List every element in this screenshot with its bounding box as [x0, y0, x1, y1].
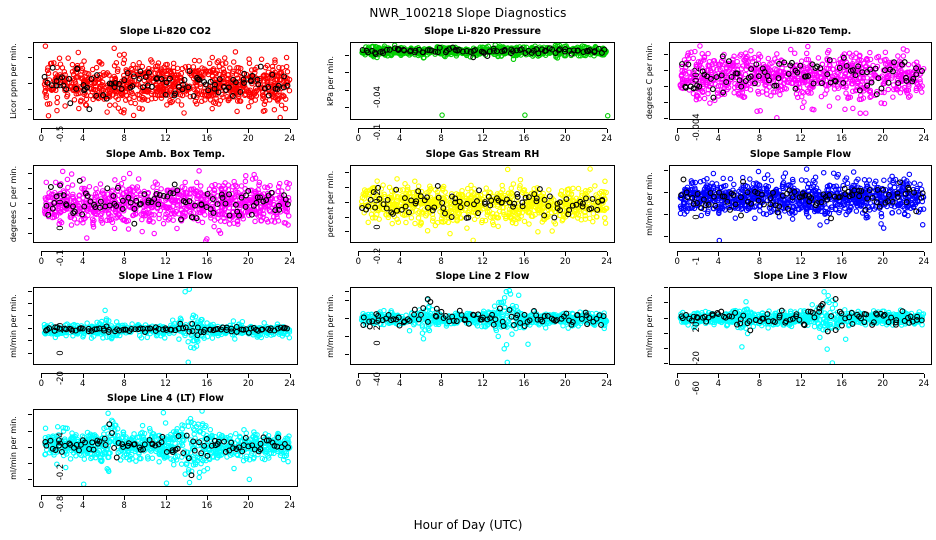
y-tick-mark — [345, 90, 349, 91]
panel-slope-li820-pressure: Slope Li-820 Pressure-0.1-0.04kPa per mi… — [317, 26, 615, 144]
x-tick-label: 0 — [27, 257, 55, 267]
y-tick-mark — [664, 214, 668, 215]
y-tick-mark — [28, 315, 32, 316]
y-tick-mark — [28, 447, 32, 448]
y-tick-mark — [345, 300, 349, 301]
x-tick-mark — [124, 374, 125, 378]
x-tick-label: 4 — [704, 134, 732, 144]
y-tick-mark — [28, 291, 32, 292]
y-axis-label: ml/min per min. — [645, 287, 654, 365]
y-tick-mark — [345, 187, 349, 188]
y-tick-mark — [664, 54, 668, 55]
y-tick-mark — [345, 217, 349, 218]
x-tick-mark — [358, 252, 359, 256]
x-tick-label: 0 — [344, 379, 372, 389]
y-axis-label: degrees C per min. — [645, 42, 654, 120]
x-tick-label: 12 — [152, 501, 180, 511]
y-tick-mark — [28, 83, 32, 84]
y-tick-label: 0.2 — [373, 182, 383, 212]
y-tick-label: 20 — [692, 312, 702, 342]
x-tick-mark — [207, 374, 208, 378]
panel-slope-line-1-flow: Slope Line 1 Flow-20020ml/min per min.04… — [0, 271, 298, 389]
x-tick-mark — [441, 129, 442, 133]
x-tick-label: 8 — [745, 257, 773, 267]
x-tick-mark — [290, 252, 291, 256]
x-tick-label: 4 — [386, 257, 414, 267]
y-tick-mark — [28, 479, 32, 480]
series-all — [678, 44, 926, 120]
y-axis-label: Licor ppm per min. — [9, 42, 18, 120]
x-tick-label: 24 — [910, 134, 936, 144]
x-tick-mark — [883, 374, 884, 378]
y-tick-label: 0 — [692, 202, 702, 232]
x-tick-mark — [207, 129, 208, 133]
x-tick-label: 16 — [510, 379, 538, 389]
y-tick-mark — [345, 72, 349, 73]
y-tick-mark — [664, 236, 668, 237]
x-tick-label: 12 — [469, 379, 497, 389]
x-tick-label: 8 — [427, 134, 455, 144]
x-tick-mark — [41, 129, 42, 133]
y-tick-mark — [28, 203, 32, 204]
panel-slope-li820-temp: Slope Li-820 Temp.-0.0040.002degrees C p… — [636, 26, 932, 144]
panel-title: Slope Amb. Box Temp. — [33, 149, 298, 160]
y-tick-mark — [664, 118, 668, 119]
x-tick-label: 24 — [276, 257, 304, 267]
x-tick-label: 0 — [27, 134, 55, 144]
x-tick-mark — [400, 374, 401, 378]
y-tick-label: -40 — [373, 364, 383, 394]
x-tick-label: 0 — [27, 501, 55, 511]
x-tick-label: 20 — [234, 134, 262, 144]
page-title: NWR_100218 Slope Diagnostics — [0, 6, 936, 20]
y-tick-mark — [28, 353, 32, 354]
scatter-points — [34, 166, 298, 243]
x-tick-mark — [166, 252, 167, 256]
x-tick-mark — [248, 374, 249, 378]
x-tick-label: 4 — [69, 257, 97, 267]
x-tick-mark — [441, 252, 442, 256]
y-tick-mark — [345, 291, 349, 292]
x-tick-mark — [207, 496, 208, 500]
x-tick-mark — [358, 129, 359, 133]
panel-title: Slope Line 2 Flow — [350, 271, 615, 282]
y-tick-mark — [664, 102, 668, 103]
y-tick-mark — [664, 192, 668, 193]
x-tick-label: 20 — [869, 257, 897, 267]
x-tick-label: 8 — [427, 379, 455, 389]
x-tick-mark — [290, 129, 291, 133]
y-tick-mark — [28, 303, 32, 304]
x-tick-mark — [483, 374, 484, 378]
y-tick-mark — [345, 202, 349, 203]
x-tick-mark — [565, 129, 566, 133]
x-tick-mark — [607, 374, 608, 378]
y-tick-label: -0.1 — [373, 117, 383, 147]
x-tick-mark — [400, 252, 401, 256]
y-tick-mark — [28, 340, 32, 341]
y-axis-label: ml/min per min. — [9, 409, 18, 487]
x-tick-mark — [248, 252, 249, 256]
x-tick-label: 8 — [110, 501, 138, 511]
x-tick-label: 8 — [110, 134, 138, 144]
series-all — [42, 44, 291, 120]
x-tick-mark — [718, 252, 719, 256]
x-tick-mark — [290, 374, 291, 378]
y-tick-mark — [28, 109, 32, 110]
y-tick-label: 0 — [373, 212, 383, 242]
y-tick-label: -0.1 — [56, 243, 66, 273]
x-tick-label: 8 — [745, 134, 773, 144]
y-axis-label: ml/min per min. — [326, 287, 335, 365]
x-tick-label: 12 — [787, 379, 815, 389]
x-tick-label: 16 — [828, 379, 856, 389]
y-axis-label: percent per min. — [326, 165, 335, 243]
y-tick-mark — [664, 86, 668, 87]
x-tick-mark — [441, 374, 442, 378]
y-tick-label: -0.2 — [56, 457, 66, 487]
x-tick-mark — [677, 129, 678, 133]
x-tick-label: 16 — [510, 257, 538, 267]
y-tick-label: -0.5 — [56, 119, 66, 149]
y-tick-mark — [28, 218, 32, 219]
x-tick-label: 0 — [344, 134, 372, 144]
x-tick-label: 12 — [787, 257, 815, 267]
plot-area — [350, 42, 615, 120]
x-tick-label: 4 — [386, 379, 414, 389]
panel-title: Slope Line 4 (LT) Flow — [33, 393, 298, 404]
x-tick-label: 24 — [276, 134, 304, 144]
y-tick-mark — [28, 328, 32, 329]
x-tick-mark — [759, 374, 760, 378]
x-tick-mark — [801, 374, 802, 378]
y-tick-mark — [28, 414, 32, 415]
y-tick-mark — [28, 463, 32, 464]
x-tick-label: 16 — [193, 257, 221, 267]
x-tick-label: 20 — [234, 379, 262, 389]
x-tick-label: 16 — [828, 134, 856, 144]
x-tick-label: 12 — [469, 257, 497, 267]
plot-area — [669, 165, 932, 243]
x-tick-mark — [565, 374, 566, 378]
series-all — [43, 169, 292, 243]
x-tick-mark — [842, 129, 843, 133]
x-tick-label: 24 — [593, 257, 621, 267]
x-tick-label: 20 — [234, 501, 262, 511]
y-tick-label: -60 — [692, 373, 702, 403]
plot-area — [350, 287, 615, 365]
x-tick-mark — [677, 252, 678, 256]
x-tick-mark — [483, 252, 484, 256]
x-tick-mark — [248, 129, 249, 133]
y-axis-label: ml/min per min. — [645, 165, 654, 243]
panel-title: Slope Sample Flow — [669, 149, 932, 160]
x-tick-mark — [883, 129, 884, 133]
x-tick-label: 20 — [551, 257, 579, 267]
x-tick-label: 4 — [69, 501, 97, 511]
x-tick-label: 16 — [510, 134, 538, 144]
y-tick-mark — [345, 107, 349, 108]
y-tick-label: 20 — [373, 310, 383, 340]
x-tick-mark — [41, 252, 42, 256]
panel-slope-sample-flow: Slope Sample Flow-10ml/min per min.04812… — [636, 149, 932, 267]
y-tick-mark — [664, 170, 668, 171]
x-tick-label: 0 — [27, 379, 55, 389]
y-tick-mark — [28, 188, 32, 189]
y-tick-mark — [664, 348, 668, 349]
x-tick-label: 24 — [910, 257, 936, 267]
y-tick-mark — [664, 70, 668, 71]
x-tick-mark — [842, 252, 843, 256]
y-tick-label: 20 — [56, 313, 66, 343]
panel-title: Slope Li-820 Pressure — [350, 26, 615, 37]
x-tick-mark — [83, 374, 84, 378]
x-tick-label: 20 — [551, 379, 579, 389]
y-tick-mark — [28, 57, 32, 58]
plot-area — [669, 287, 932, 365]
y-tick-mark — [664, 287, 668, 288]
x-tick-label: 8 — [427, 257, 455, 267]
y-tick-mark — [345, 354, 349, 355]
plot-area — [33, 165, 298, 243]
x-tick-label: 0 — [344, 257, 372, 267]
panel-slope-line-4-lt-flow: Slope Line 4 (LT) Flow-0.8-0.20.4ml/min … — [0, 393, 298, 511]
x-tick-label: 4 — [69, 134, 97, 144]
x-tick-label: 4 — [704, 257, 732, 267]
plot-area — [33, 287, 298, 365]
x-tick-label: 24 — [276, 501, 304, 511]
x-tick-label: 16 — [193, 134, 221, 144]
x-tick-mark — [290, 496, 291, 500]
series-all — [678, 167, 926, 243]
x-tick-mark — [759, 129, 760, 133]
x-tick-mark — [924, 129, 925, 133]
y-axis-label: ml/min per min. — [9, 287, 18, 365]
panel-slope-line-2-flow: Slope Line 2 Flow-40020ml/min per min.04… — [317, 271, 615, 389]
y-axis-label: degrees C per min. — [9, 165, 18, 243]
panel-title: Slope Gas Stream RH — [350, 149, 615, 160]
x-tick-mark — [524, 129, 525, 133]
x-axis-super-label: Hour of Day (UTC) — [0, 518, 936, 532]
x-tick-label: 4 — [704, 379, 732, 389]
x-tick-label: 20 — [234, 257, 262, 267]
x-tick-mark — [358, 374, 359, 378]
x-tick-mark — [83, 496, 84, 500]
y-tick-mark — [28, 431, 32, 432]
panel-title: Slope Line 3 Flow — [669, 271, 932, 282]
scatter-points — [34, 43, 298, 120]
x-tick-mark — [924, 252, 925, 256]
y-tick-label: 0 — [56, 213, 66, 243]
x-tick-mark — [124, 496, 125, 500]
x-tick-label: 12 — [787, 134, 815, 144]
y-tick-label: -0.04 — [373, 82, 383, 112]
panel-title: Slope Line 1 Flow — [33, 271, 298, 282]
x-tick-mark — [842, 374, 843, 378]
plot-area — [350, 165, 615, 243]
x-tick-mark — [801, 252, 802, 256]
panel-title: Slope Li-820 CO2 — [33, 26, 298, 37]
x-tick-label: 24 — [910, 379, 936, 389]
x-tick-label: 0 — [663, 257, 691, 267]
x-tick-mark — [248, 496, 249, 500]
x-tick-label: 24 — [276, 379, 304, 389]
x-tick-label: 0 — [663, 134, 691, 144]
y-tick-mark — [345, 55, 349, 56]
x-tick-label: 16 — [193, 379, 221, 389]
scatter-points — [34, 410, 298, 487]
x-tick-mark — [883, 252, 884, 256]
y-tick-mark — [345, 318, 349, 319]
x-tick-label: 20 — [551, 134, 579, 144]
x-tick-mark — [801, 129, 802, 133]
x-tick-mark — [677, 374, 678, 378]
panel-slope-gas-stream-rh: Slope Gas Stream RH-0.200.2percent per m… — [317, 149, 615, 267]
x-tick-mark — [759, 252, 760, 256]
x-tick-label: 12 — [152, 379, 180, 389]
panel-slope-amb-box-temp: Slope Amb. Box Temp.-0.100.1degrees C pe… — [0, 149, 298, 267]
y-tick-mark — [664, 363, 668, 364]
y-tick-mark — [664, 318, 668, 319]
x-tick-mark — [41, 374, 42, 378]
y-tick-mark — [345, 336, 349, 337]
x-tick-mark — [166, 129, 167, 133]
x-tick-label: 24 — [593, 134, 621, 144]
x-tick-label: 20 — [869, 379, 897, 389]
y-tick-mark — [28, 173, 32, 174]
series-flagged — [679, 177, 925, 221]
x-tick-mark — [41, 496, 42, 500]
panel-slope-li820-co2: Slope Li-820 CO2-0.50.5Licor ppm per min… — [0, 26, 298, 144]
y-tick-label: 0.5 — [56, 67, 66, 97]
y-tick-mark — [345, 172, 349, 173]
x-tick-mark — [483, 129, 484, 133]
y-tick-label: 0.002 — [692, 64, 702, 94]
scatter-points — [351, 288, 615, 365]
series-all — [678, 290, 925, 365]
x-tick-mark — [400, 129, 401, 133]
scatter-points — [670, 288, 932, 365]
scatter-points — [670, 166, 932, 243]
x-tick-label: 8 — [745, 379, 773, 389]
x-tick-mark — [166, 374, 167, 378]
x-tick-label: 24 — [593, 379, 621, 389]
x-tick-label: 4 — [69, 379, 97, 389]
x-tick-mark — [718, 129, 719, 133]
x-tick-mark — [124, 129, 125, 133]
x-tick-mark — [718, 374, 719, 378]
x-tick-mark — [524, 252, 525, 256]
panel-slope-line-3-flow: Slope Line 3 Flow-60-2020ml/min per min.… — [636, 271, 932, 389]
y-tick-mark — [664, 302, 668, 303]
y-tick-mark — [28, 233, 32, 234]
y-tick-mark — [345, 231, 349, 232]
y-tick-label: 0.4 — [56, 424, 66, 454]
plot-area — [33, 42, 298, 120]
y-tick-label: 0.1 — [56, 183, 66, 213]
x-tick-label: 16 — [828, 257, 856, 267]
scatter-points — [34, 288, 298, 365]
x-tick-mark — [166, 496, 167, 500]
plot-area — [669, 42, 932, 120]
scatter-points — [670, 43, 932, 120]
x-tick-mark — [607, 252, 608, 256]
x-tick-label: 8 — [110, 257, 138, 267]
x-tick-label: 20 — [869, 134, 897, 144]
plot-area — [33, 409, 298, 487]
y-tick-label: -20 — [692, 343, 702, 373]
x-tick-mark — [524, 374, 525, 378]
x-tick-mark — [83, 252, 84, 256]
x-tick-mark — [124, 252, 125, 256]
x-tick-label: 12 — [152, 134, 180, 144]
scatter-points — [351, 166, 615, 243]
x-tick-mark — [924, 374, 925, 378]
x-tick-mark — [83, 129, 84, 133]
x-tick-label: 12 — [152, 257, 180, 267]
x-tick-label: 16 — [193, 501, 221, 511]
y-axis-label: kPa per min. — [326, 42, 335, 120]
y-tick-mark — [664, 333, 668, 334]
x-tick-label: 12 — [469, 134, 497, 144]
x-tick-mark — [607, 129, 608, 133]
panel-title: Slope Li-820 Temp. — [669, 26, 932, 37]
x-tick-label: 8 — [110, 379, 138, 389]
y-tick-label: -0.8 — [56, 489, 66, 519]
x-tick-mark — [207, 252, 208, 256]
x-tick-label: 4 — [386, 134, 414, 144]
x-tick-label: 0 — [663, 379, 691, 389]
y-tick-label: -0.2 — [373, 241, 383, 271]
scatter-points — [351, 43, 615, 120]
x-tick-mark — [565, 252, 566, 256]
